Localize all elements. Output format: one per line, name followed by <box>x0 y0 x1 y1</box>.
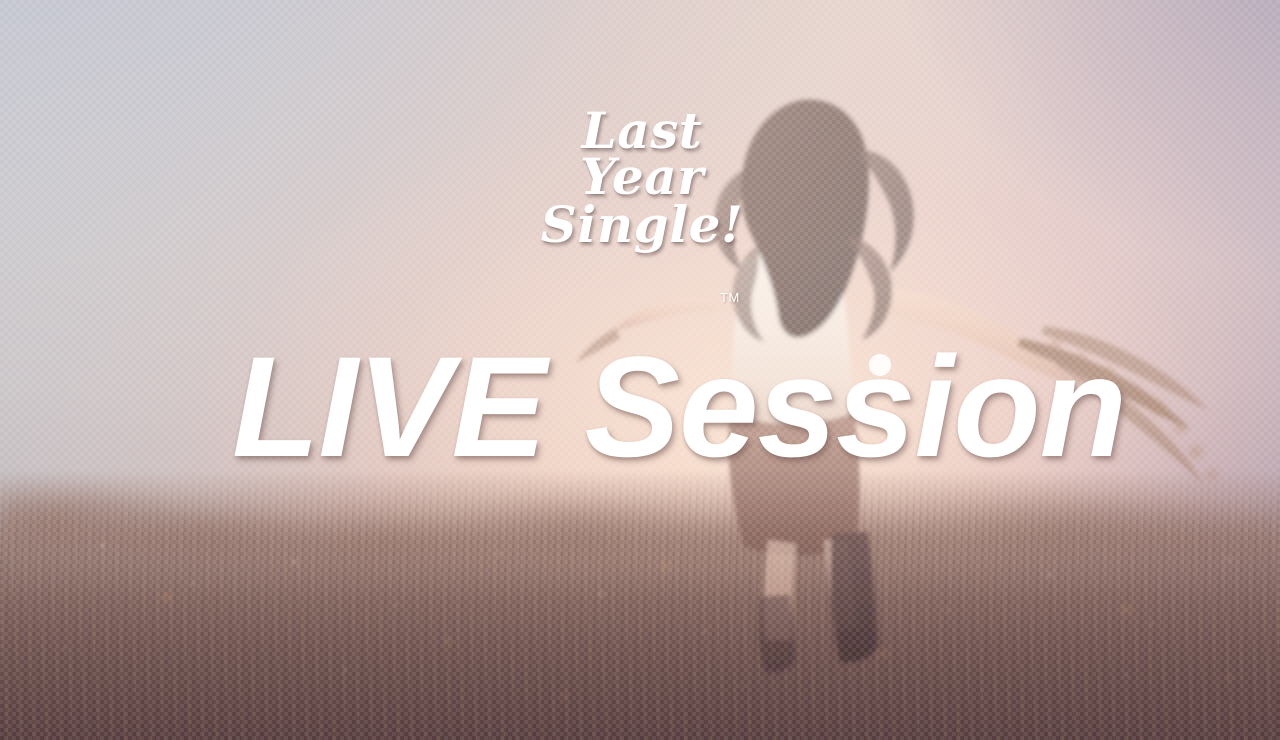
text-content: Last Year Single! TM LIVE Session <box>0 0 1280 740</box>
logo-line-2: Single! TM <box>512 202 772 248</box>
trademark-symbol: TM <box>720 292 740 304</box>
brand-logo: Last Year Single! TM <box>512 108 772 248</box>
logo-line-2-text: Single! <box>541 195 744 254</box>
page-title: LIVE Session <box>232 336 1126 479</box>
logo-line-1: Last Year <box>512 108 772 200</box>
promo-banner: Last Year Single! TM LIVE Session <box>0 0 1280 740</box>
